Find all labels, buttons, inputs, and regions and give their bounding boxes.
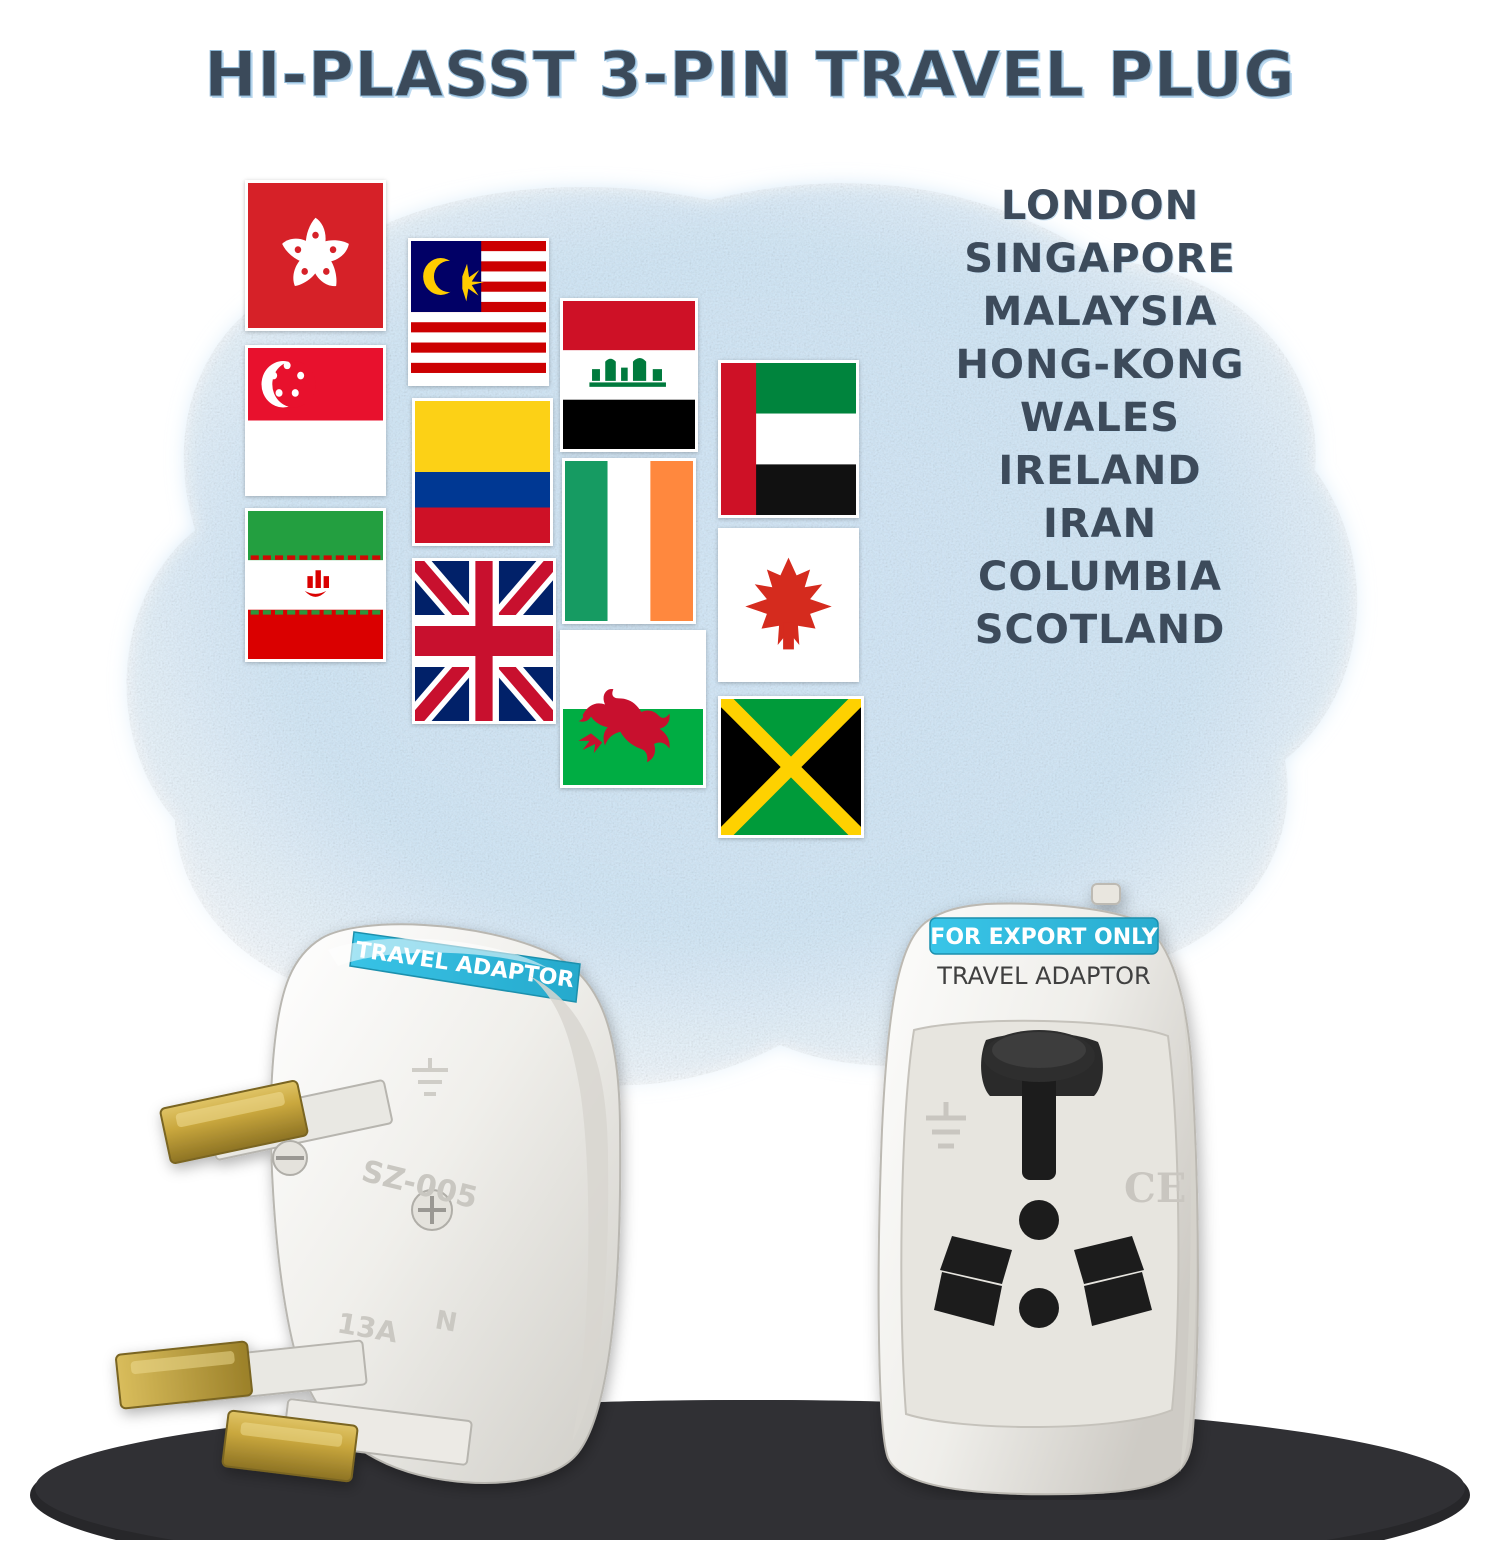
country-list: LONDON SINGAPORE MALAYSIA HONG-KONG WALE… — [930, 180, 1270, 657]
united-arab-emirates-flag — [718, 360, 859, 518]
hong-kong-flag — [245, 180, 386, 331]
country-item: LONDON — [930, 180, 1270, 233]
universal-socket-back: FOR EXPORT ONLY TRAVEL ADAPTOR — [700, 880, 1320, 1500]
iraq-flag — [560, 298, 698, 452]
country-item: MALAYSIA — [930, 286, 1270, 339]
right-plug-sticker-line1: FOR EXPORT ONLY — [930, 925, 1158, 950]
iran-flag — [245, 508, 386, 662]
page-title: HI-PLASST 3-PIN TRAVEL PLUG — [0, 38, 1500, 111]
ireland-flag — [562, 458, 696, 624]
ce-mark: CE — [1124, 1165, 1186, 1212]
country-item: COLUMBIA — [930, 551, 1270, 604]
country-item: IRELAND — [930, 445, 1270, 498]
country-item: HONG-KONG — [930, 339, 1270, 392]
jamaica-flag — [718, 696, 864, 838]
canada-flag — [718, 528, 859, 682]
right-plug-sticker-line2: TRAVEL ADAPTOR — [936, 962, 1150, 990]
country-item: SINGAPORE — [930, 233, 1270, 286]
country-item: IRAN — [930, 498, 1270, 551]
malaysia-flag — [408, 238, 549, 386]
wales-flag — [560, 630, 706, 788]
singapore-flag — [245, 345, 386, 496]
country-item: WALES — [930, 392, 1270, 445]
united-kingdom-flag — [412, 558, 556, 724]
colombia-flag — [412, 398, 553, 546]
uk-3-pin-plug-front: TRAVEL ADAPTOR SZ-005 13A — [60, 880, 680, 1500]
country-item: SCOTLAND — [930, 604, 1270, 657]
